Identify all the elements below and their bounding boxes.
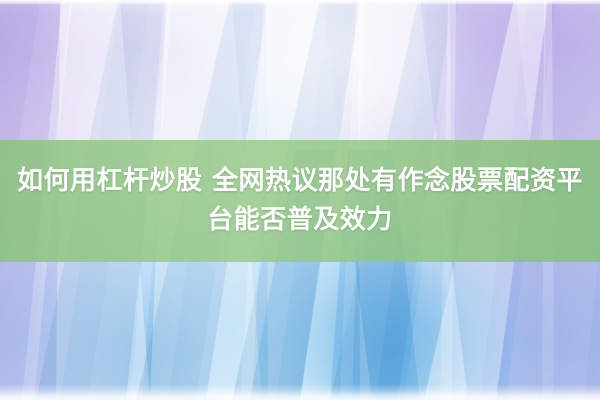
title-band: 如何用杠杆炒股 全网热议那处有作念股票配资平台能否普及效力 [0,140,600,262]
top-highlight-strip [0,0,600,5]
banner-image: 如何用杠杆炒股 全网热议那处有作念股票配资平台能否普及效力 [0,0,600,400]
bottom-haze-strip [0,384,600,400]
banner-title: 如何用杠杆炒股 全网热议那处有作念股票配资平台能否普及效力 [16,162,584,240]
